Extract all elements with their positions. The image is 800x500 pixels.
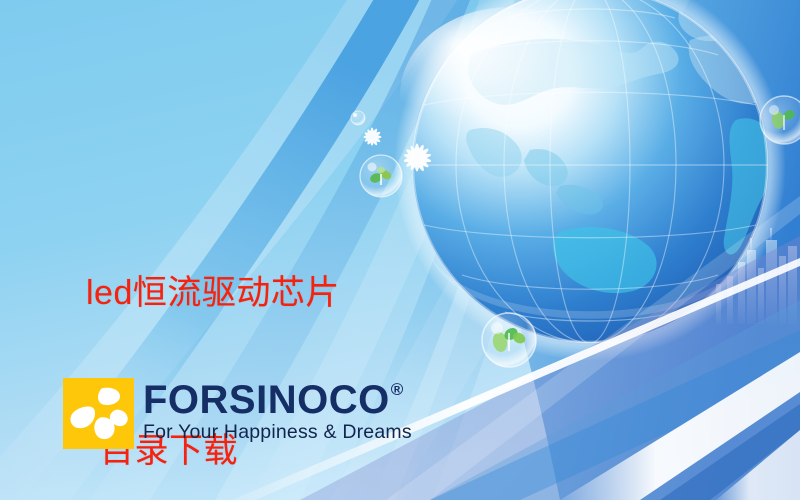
bubble-with-sprout [482,313,536,367]
globe-grid [412,0,768,343]
bubble-with-pinwheel [360,155,402,197]
registered-trademark-icon: ® [391,381,404,398]
brand-tagline: For Your Happiness & Dreams [143,422,412,443]
four-petal-pinwheel-icon [63,378,134,449]
promo-banner: led恒流驱动芯片 目录下载 FORSINOCO ® [0,0,800,500]
headline-line-1: led恒流驱动芯片 [86,267,340,320]
company-logo[interactable]: FORSINOCO ® For Your Happiness & Dreams [63,378,412,449]
bubble-plain [351,111,365,125]
daisy-flower-small [364,128,382,147]
logo-mark [63,378,134,449]
bubble-edge-right [760,96,800,144]
brand-row: FORSINOCO ® [143,380,412,420]
logo-wordmark: FORSINOCO ® For Your Happiness & Dreams [143,380,412,443]
city-skyline-silhouette [716,228,797,324]
page-title: led恒流驱动芯片 目录下载 [86,162,340,500]
brand-name: FORSINOCO [143,380,390,420]
daisy-flower-large [403,144,432,173]
globe-continents [466,8,781,293]
earth-globe [394,0,786,361]
